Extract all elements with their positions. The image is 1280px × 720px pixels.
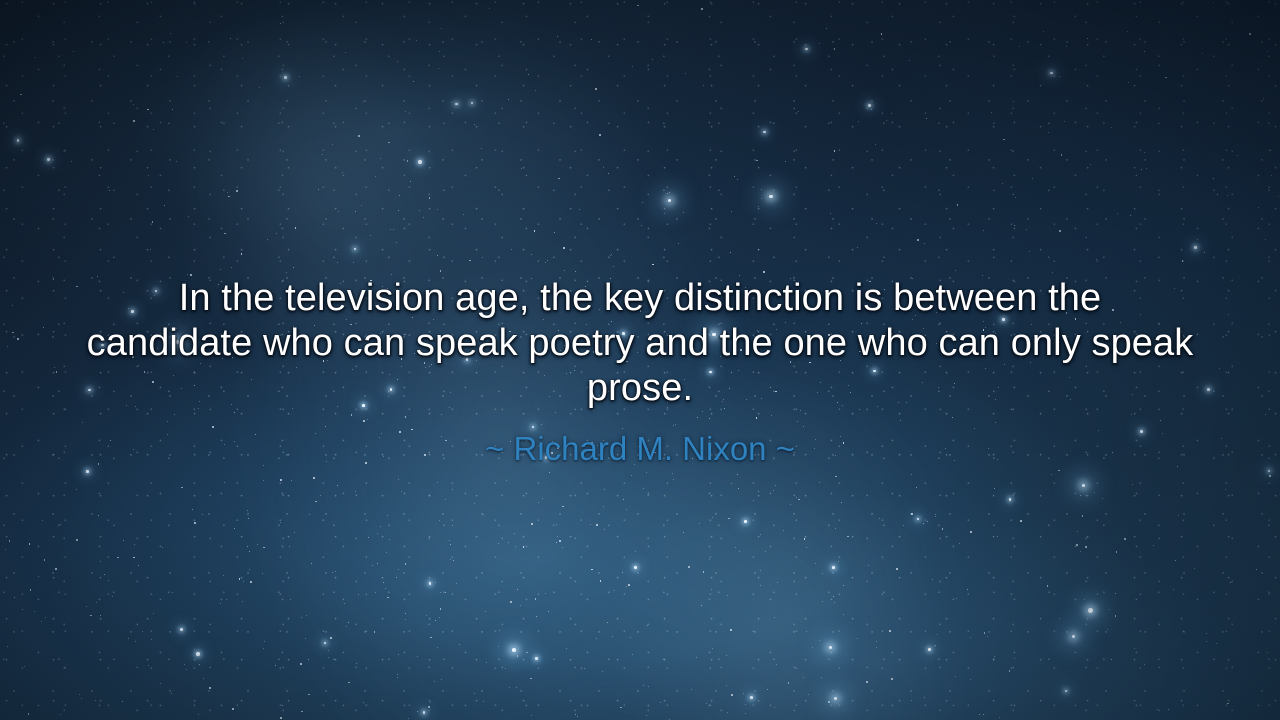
quote-image-canvas: In the television age, the key distincti… (0, 0, 1280, 720)
quote-text-block: In the television age, the key distincti… (0, 276, 1280, 469)
quote-attribution: ~ Richard M. Nixon ~ (24, 429, 1256, 469)
quote-line-2: candidate who can speak poetry and the o… (45, 321, 1235, 366)
quote-line-1: In the television age, the key distincti… (45, 276, 1235, 321)
quote-line-3: prose. (45, 366, 1235, 411)
